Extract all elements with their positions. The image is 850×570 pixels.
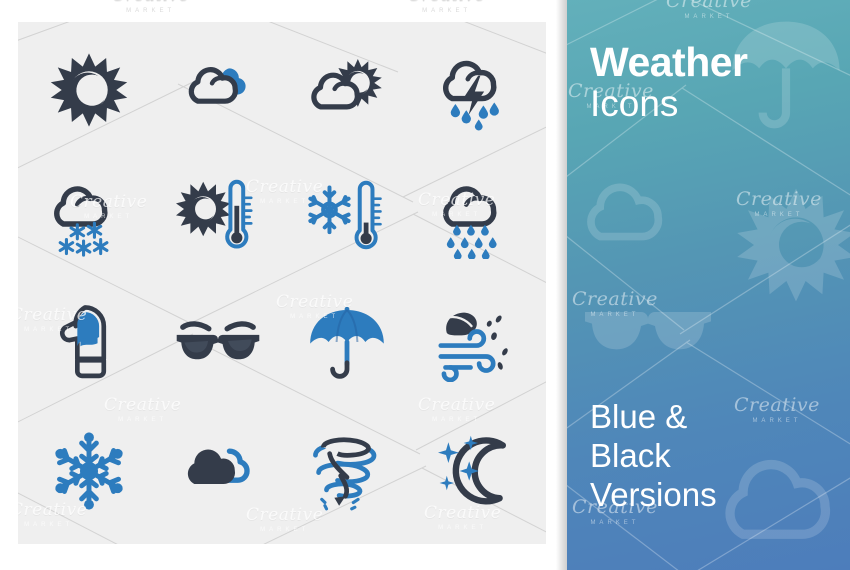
wind-icon[interactable]: [433, 306, 519, 382]
icon-cell-sunglasses[interactable]: [153, 280, 282, 407]
tornado-icon[interactable]: [306, 428, 388, 514]
icon-cell-snowflake[interactable]: [24, 407, 153, 534]
hot-thermometer-icon[interactable]: [176, 177, 260, 257]
watermark-sub: MARKET: [666, 14, 752, 20]
icon-cell-overcast-cloud[interactable]: [153, 407, 282, 534]
versions-block: Blue & Black Versions: [590, 398, 717, 515]
ghost-sunglasses-icon: [578, 286, 718, 371]
watermark: Creative MARKET: [734, 396, 820, 424]
versions-line-3: Versions: [590, 476, 717, 515]
product-title-block: Weather Icons: [590, 42, 748, 124]
sun-icon[interactable]: [50, 51, 128, 129]
watermark: Creative MARKET: [572, 290, 658, 318]
page-subtitle: Icons: [590, 85, 748, 124]
watermark-sub: MARKET: [736, 212, 822, 218]
watermark-main: Creative: [666, 0, 752, 11]
icon-cell-snow-cloud[interactable]: [24, 153, 153, 280]
watermark-sub: MARKET: [734, 418, 820, 424]
icon-plate: Creative MARKET Creative MARKET Creative…: [18, 22, 546, 544]
watermark-main: Creative: [408, 0, 485, 5]
watermark: Creative MARKET: [666, 0, 752, 20]
overcast-cloud-icon[interactable]: [176, 437, 260, 505]
ghost-sun-icon: [736, 185, 850, 310]
watermark-sub: MARKET: [112, 8, 189, 14]
icon-showcase-panel: Creative MARKET Creative MARKET Creative…: [0, 0, 556, 570]
rain-cloud-icon[interactable]: [435, 175, 517, 259]
watermark-main: Creative: [572, 290, 658, 309]
watermark: Creative MARKET: [736, 190, 822, 218]
icon-cell-night-moon[interactable]: [411, 407, 540, 534]
top-white-strip: Creative MARKET Creative MARKET: [0, 0, 556, 22]
icon-cell-hot-thermometer[interactable]: [153, 153, 282, 280]
icon-cell-wind[interactable]: [411, 280, 540, 407]
icon-cell-cloudy[interactable]: [153, 26, 282, 153]
preview-canvas: Creative MARKET Creative MARKET Creative…: [0, 0, 850, 570]
watermark-sub: MARKET: [572, 312, 658, 318]
icon-cell-umbrella[interactable]: [282, 280, 411, 407]
icon-cell-partly-cloudy[interactable]: [282, 26, 411, 153]
product-info-panel: Creative MARKET Creative MARKET Creative…: [556, 0, 850, 570]
sunglasses-icon[interactable]: [172, 318, 264, 370]
ghost-cloud-icon: [574, 170, 694, 271]
thunderstorm-icon[interactable]: [435, 48, 517, 132]
watermark-main: Creative: [112, 0, 189, 5]
watermark-main: Creative: [734, 396, 820, 415]
snowflake-icon[interactable]: [48, 428, 130, 514]
icon-cell-mitten[interactable]: [24, 280, 153, 407]
umbrella-icon[interactable]: [307, 302, 387, 386]
page-title: Weather: [590, 42, 748, 83]
ghost-cloud-icon: [706, 440, 850, 570]
watermark-main: Creative: [736, 190, 822, 209]
watermark-sub: MARKET: [572, 520, 658, 526]
watermark: Creative MARKET: [112, 0, 189, 14]
versions-line-1: Blue &: [590, 398, 717, 437]
panel-divider: [556, 0, 567, 570]
icon-cell-rain-cloud[interactable]: [411, 153, 540, 280]
icon-cell-sun[interactable]: [24, 26, 153, 153]
watermark-sub: MARKET: [408, 8, 485, 14]
snow-cloud-icon[interactable]: [46, 175, 132, 259]
mitten-icon[interactable]: [54, 301, 124, 387]
partly-cloudy-icon[interactable]: [304, 54, 390, 126]
watermark: Creative MARKET: [408, 0, 485, 14]
icon-cell-tornado[interactable]: [282, 407, 411, 534]
cloudy-icon[interactable]: [177, 55, 259, 125]
icon-grid: [18, 22, 546, 544]
night-moon-icon[interactable]: [434, 431, 518, 511]
versions-line-2: Black: [590, 437, 717, 476]
cold-thermometer-icon[interactable]: [304, 176, 390, 258]
icon-cell-thunderstorm[interactable]: [411, 26, 540, 153]
icon-cell-cold-thermometer[interactable]: [282, 153, 411, 280]
